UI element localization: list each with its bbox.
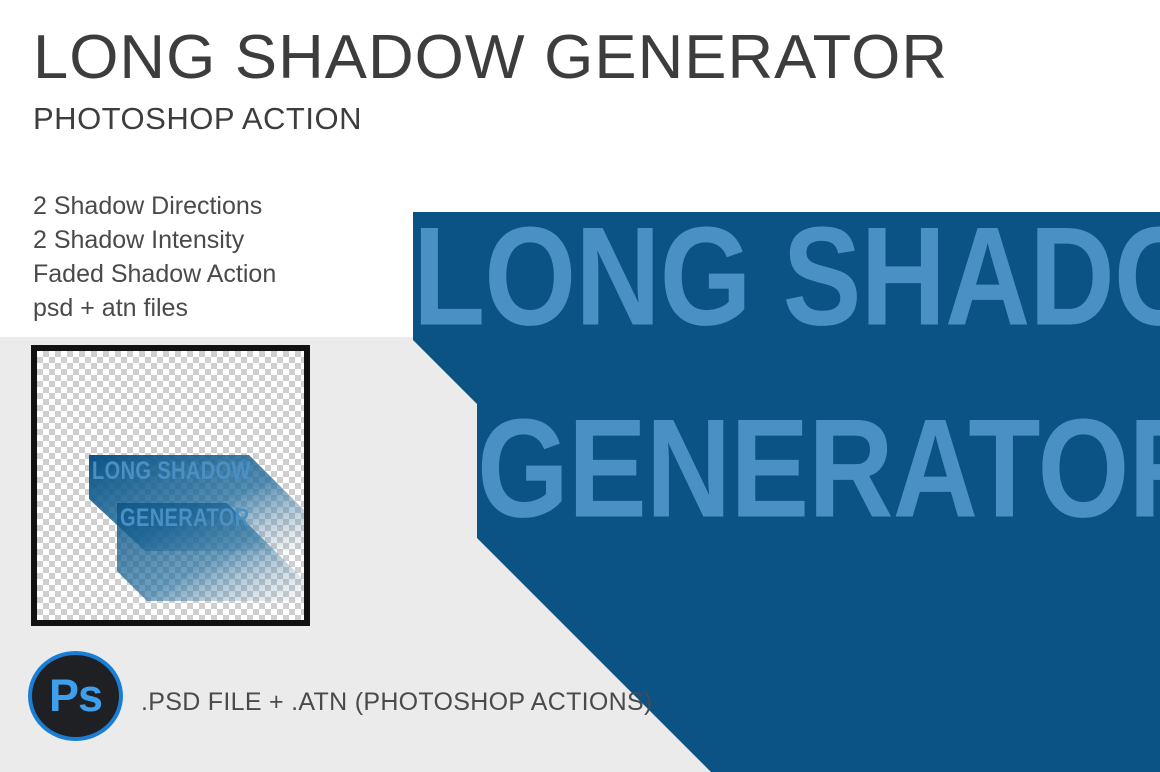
preview-thumbnail-frame[interactable]: LONG SHADOW GENERATOR [31, 345, 310, 626]
footer-file-types: .PSD FILE + .ATN (PHOTOSHOP ACTIONS) [141, 688, 653, 717]
hero-headline-line-1: LONG SHADOW [413, 206, 1160, 346]
thumbnail-art-line-2: GENERATOR [120, 506, 250, 531]
list-item: psd + atn files [33, 291, 276, 325]
transparency-checkerboard: LONG SHADOW GENERATOR [37, 351, 304, 620]
page-title: LONG SHADOW GENERATOR [33, 26, 951, 90]
list-item: Faded Shadow Action [33, 257, 276, 291]
page-subtitle: PHOTOSHOP ACTION [33, 102, 933, 135]
list-item: 2 Shadow Intensity [33, 223, 276, 257]
thumbnail-shadow-artwork [37, 351, 304, 620]
feature-list: 2 Shadow Directions 2 Shadow Intensity F… [33, 189, 276, 325]
list-item: 2 Shadow Directions [33, 189, 276, 223]
poster-canvas: LONG SHADOW GENERATOR PHOTOSHOP ACTION 2… [0, 0, 1160, 772]
thumbnail-art-line-1: LONG SHADOW [92, 459, 251, 484]
header-block: LONG SHADOW GENERATOR PHOTOSHOP ACTION [33, 26, 933, 135]
hero-headline-line-2: GENERATOR [477, 398, 1160, 538]
photoshop-badge-label: Ps [49, 673, 102, 718]
photoshop-badge-icon: Ps [28, 651, 123, 741]
